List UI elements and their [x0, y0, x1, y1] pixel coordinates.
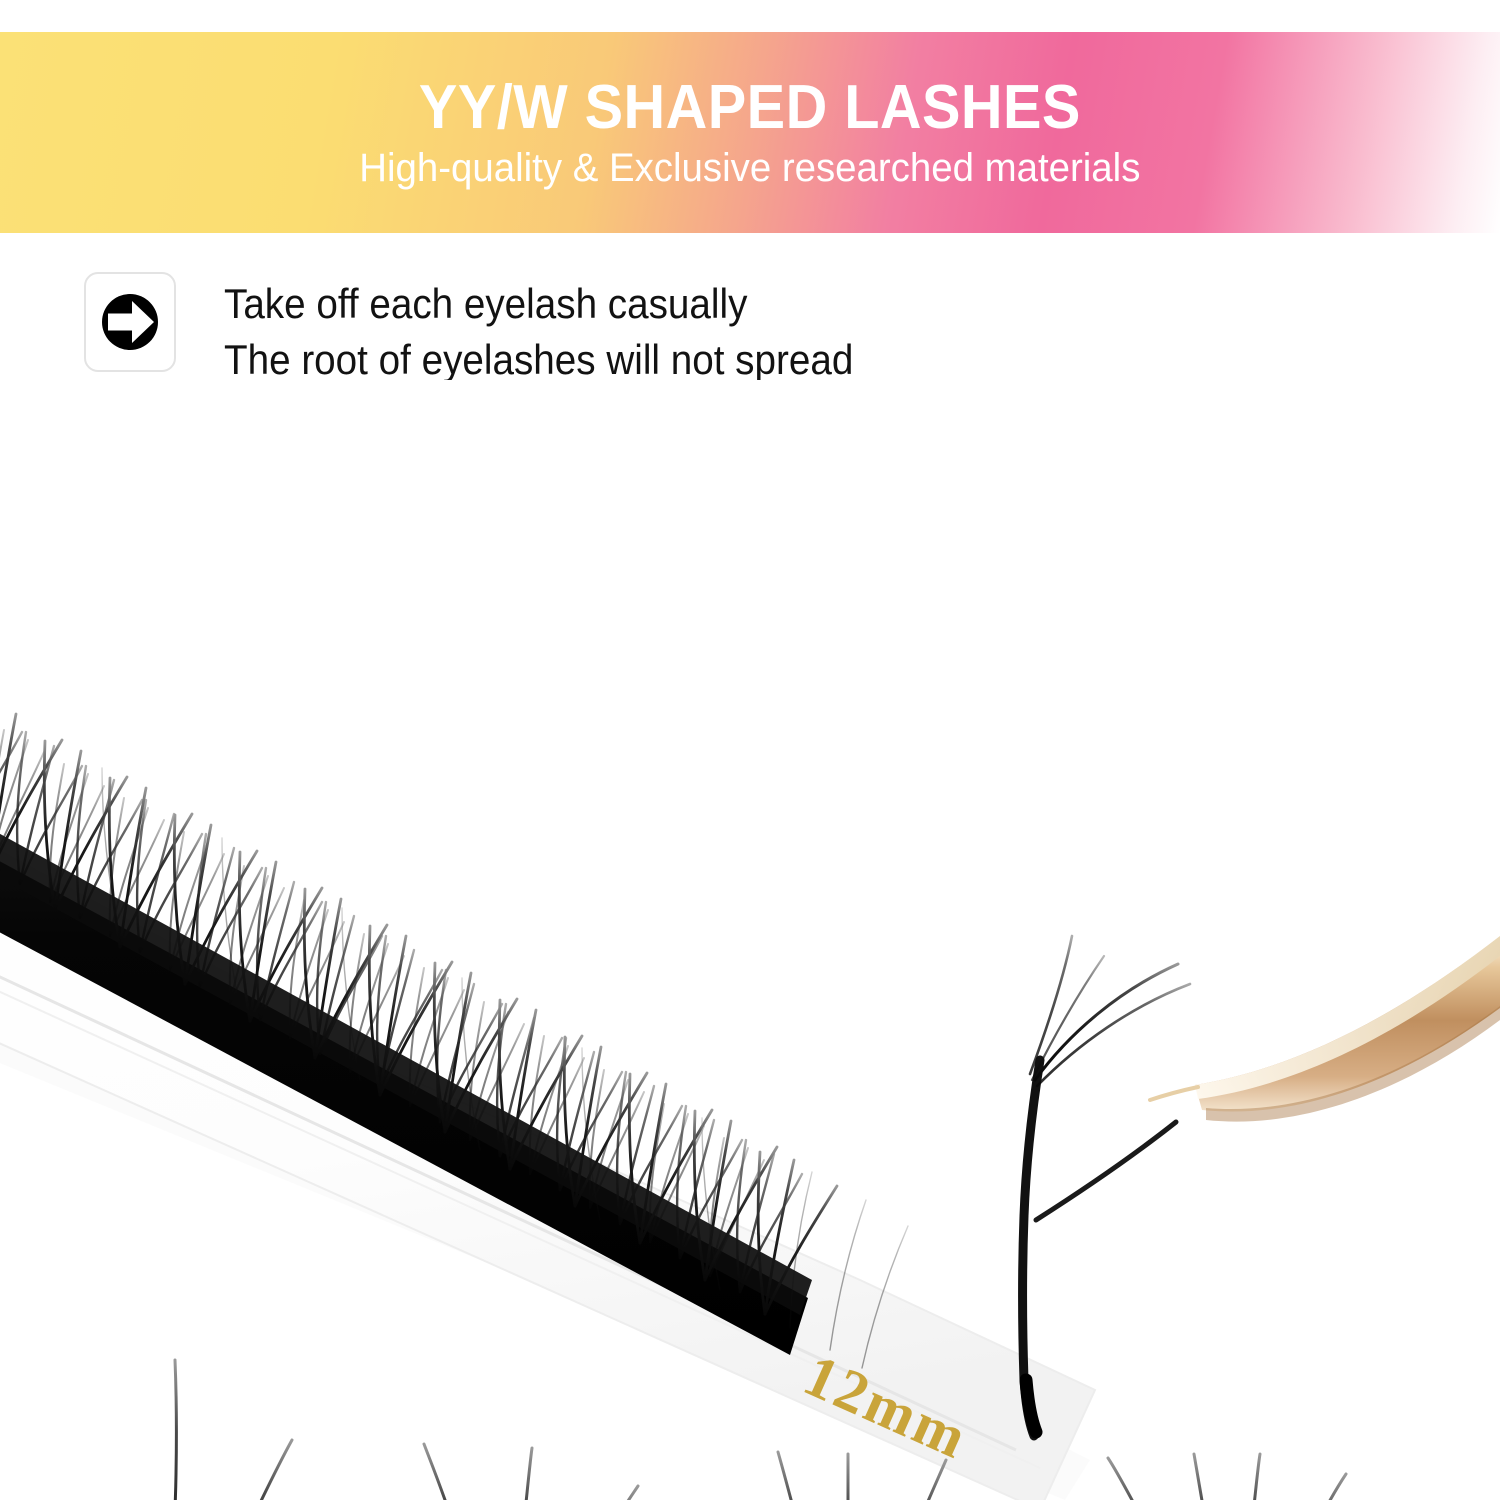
- product-infographic-page: YY/W SHAPED LASHES High-quality & Exclus…: [0, 0, 1500, 1500]
- feature-note-line-1: Take off each eyelash casually: [224, 276, 853, 332]
- product-photo: 12mm: [0, 380, 1500, 1500]
- tweezer: [1150, 936, 1500, 1122]
- page-title: YY/W SHAPED LASHES: [419, 76, 1081, 139]
- page-subtitle: High-quality & Exclusive researched mate…: [359, 147, 1140, 189]
- header-banner: YY/W SHAPED LASHES High-quality & Exclus…: [0, 32, 1500, 233]
- feature-icon-box: [84, 272, 176, 372]
- arrow-right-circle-icon: [94, 286, 166, 358]
- feature-note-lines: Take off each eyelash casually The root …: [224, 272, 908, 388]
- fan-sample-3d: [88, 1360, 382, 1500]
- fan-sample-4d: [424, 1444, 734, 1500]
- header-banner-text: YY/W SHAPED LASHES High-quality & Exclus…: [0, 32, 1500, 233]
- lifted-lash-fan: [1023, 936, 1191, 1436]
- feature-note: Take off each eyelash casually The root …: [84, 272, 908, 388]
- fan-sample-6d: [1108, 1454, 1480, 1500]
- product-photo-illustration: 12mm: [0, 380, 1500, 1500]
